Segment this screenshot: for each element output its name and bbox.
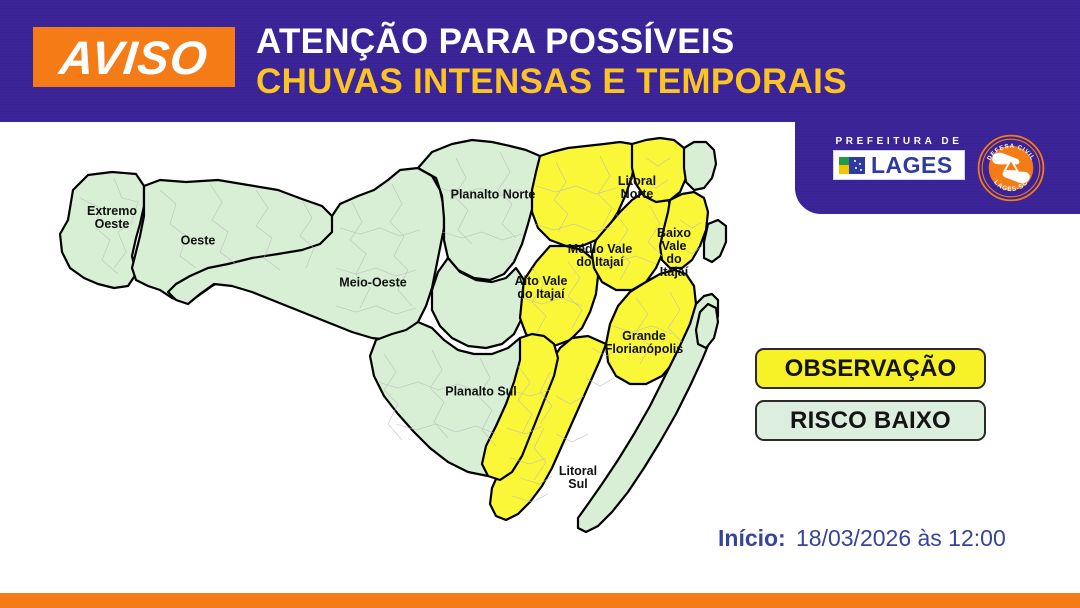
footer-bar: [0, 593, 1080, 608]
defesa-civil-logo: DEFESA CIVIL LAGES-SC: [975, 132, 1047, 204]
prefeitura-name: LAGES: [871, 154, 953, 177]
map-region-extremo-oeste: [60, 172, 144, 288]
status-badge-level-label: OBSERVAÇÃO: [785, 355, 957, 383]
alert-period-start-row: Início: 18/03/2026 às 12:00: [718, 523, 1006, 553]
map-region-coast-detail-north: [684, 142, 716, 190]
header-band: AVISO ATENÇÃO PARA POSSÍVEIS CHUVAS INTE…: [0, 0, 1080, 122]
headline-line-2: CHUVAS INTENSAS E TEMPORAIS: [256, 62, 1016, 102]
headline-line-1: ATENÇÃO PARA POSSÍVEIS: [256, 22, 1016, 62]
alert-period-start-label: Início:: [718, 523, 796, 553]
santa-catarina-map: Extremo Oeste Oeste Meio-Oeste Planalto …: [40, 128, 730, 580]
logo-panel: PREFEITURA DE LAGES: [795, 122, 1080, 214]
alert-period: Início: 18/03/2026 às 12:00 Fim: 19/03/2…: [718, 462, 1006, 608]
prefeitura-kicker: PREFEITURA DE: [833, 136, 965, 147]
status-badge-risk: RISCO BAIXO: [755, 400, 986, 441]
defesa-civil-seal-icon: DEFESA CIVIL LAGES-SC: [975, 132, 1047, 204]
weather-alert-poster: AVISO ATENÇÃO PARA POSSÍVEIS CHUVAS INTE…: [0, 0, 1080, 608]
map-region-alto-vale-do-itajai: [520, 246, 598, 346]
lages-flag-icon: [839, 157, 865, 174]
aviso-badge: AVISO: [33, 27, 235, 87]
map-region-litoral-norte: [632, 138, 688, 202]
prefeitura-wordmark-box: LAGES: [833, 150, 965, 180]
map-svg: [40, 128, 730, 580]
headline: ATENÇÃO PARA POSSÍVEIS CHUVAS INTENSAS E…: [256, 22, 1016, 102]
map-region-coast-detail-east: [704, 220, 726, 262]
prefeitura-lages-logo: PREFEITURA DE LAGES: [833, 136, 965, 180]
aviso-badge-label: AVISO: [58, 34, 211, 81]
status-badge-level: OBSERVAÇÃO: [755, 348, 986, 389]
status-badge-risk-label: RISCO BAIXO: [790, 407, 951, 435]
alert-period-start-value: 18/03/2026 às 12:00: [796, 523, 1006, 553]
